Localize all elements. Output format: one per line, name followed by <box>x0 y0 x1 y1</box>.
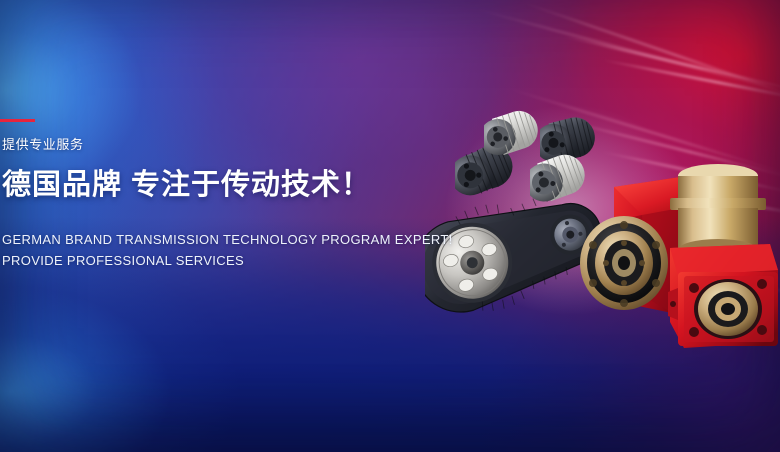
light-streak <box>560 214 780 283</box>
background-crimson-glow <box>0 0 780 452</box>
subline-secondary: PROVIDE PROFESSIONAL SERVICES <box>2 252 244 269</box>
light-streak <box>470 6 780 94</box>
right-angle-gearbox-front <box>662 152 780 352</box>
timing-belt-with-sprocket <box>425 186 625 331</box>
light-streak <box>505 86 780 177</box>
product-halo <box>440 85 700 335</box>
background-base-gradient <box>0 0 780 452</box>
light-streak <box>560 34 780 93</box>
accent-rule <box>0 119 35 122</box>
background-dark-corner <box>0 0 780 452</box>
timing-pulley-dark-left <box>455 140 517 198</box>
light-streak <box>620 252 780 298</box>
background-light-streaks <box>0 0 780 452</box>
light-streak <box>600 58 780 103</box>
background-magenta-glow <box>0 0 780 452</box>
background-cyan-glow-top <box>0 0 780 452</box>
product-imagery <box>0 0 780 452</box>
background-bottom-fade <box>0 0 780 452</box>
background-vignette <box>0 0 780 452</box>
promo-banner: 提供专业服务 德国品牌 专注于传动技术！ GERMAN BRAND TRANSM… <box>0 0 780 452</box>
background-cyan-glow-bottom <box>0 0 780 452</box>
background-blue-haze <box>0 0 780 452</box>
light-streak <box>520 0 780 101</box>
background-purple-haze <box>0 0 780 452</box>
light-streak <box>600 150 780 195</box>
light-streak <box>560 118 780 180</box>
timing-pulley-silver-lower <box>530 150 588 204</box>
light-streak <box>650 186 780 217</box>
kicker-text: 提供专业服务 <box>2 137 84 153</box>
background-bottom-blue-mass <box>0 0 780 452</box>
timing-pulley-silver-small <box>484 106 542 158</box>
timing-pulley-dark-upper <box>540 112 598 166</box>
right-angle-gearbox-rear <box>576 163 726 343</box>
headline-text: 德国品牌 专注于传动技术！ <box>2 168 371 202</box>
subline-primary: GERMAN BRAND TRANSMISSION TECHNOLOGY PRO… <box>2 231 453 248</box>
